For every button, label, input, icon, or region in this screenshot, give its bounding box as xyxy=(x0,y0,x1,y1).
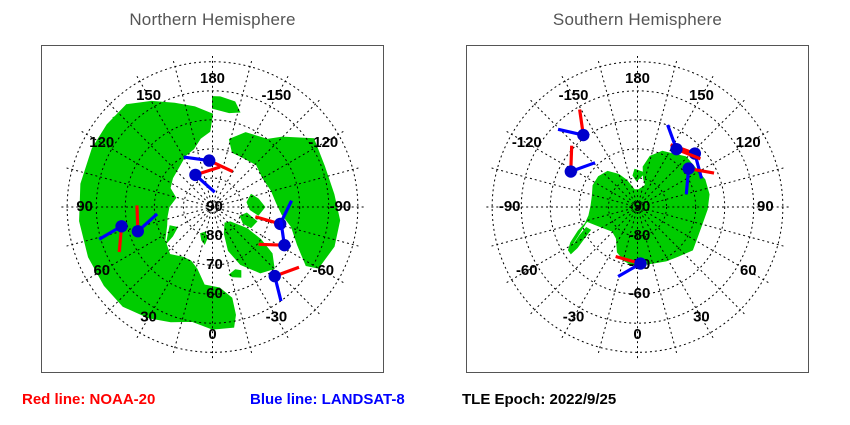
legend-tle-epoch: TLE Epoch: 2022/9/25 xyxy=(462,391,616,408)
satellite-marker xyxy=(682,162,694,174)
longitude-label: 30 xyxy=(140,310,157,326)
satellite-marker xyxy=(203,154,215,166)
southern-hemisphere-title: Southern Hemisphere xyxy=(425,10,850,30)
southern-hemisphere-panel: Southern Hemisphere 0306090120150180-150… xyxy=(425,0,850,390)
satellite-marker xyxy=(670,143,682,155)
longitude-label: -60 xyxy=(312,263,334,279)
northern-polar-plot: 0306090120150180-150-120-90-60-309080706… xyxy=(41,45,384,373)
longitude-label: -150 xyxy=(559,88,589,104)
latitude-label: -90 xyxy=(629,199,651,215)
longitude-label: 90 xyxy=(757,199,774,215)
latitude-label: -60 xyxy=(629,286,651,302)
satellite-marker xyxy=(115,220,127,232)
latitude-label: -80 xyxy=(629,228,651,244)
northern-hemisphere-panel: Northern Hemisphere 0306090120150180-150… xyxy=(0,0,425,390)
satellite-marker xyxy=(189,169,201,181)
longitude-label: 60 xyxy=(740,263,757,279)
longitude-label: -150 xyxy=(262,88,292,104)
legend-landsat-8: Blue line: LANDSAT-8 xyxy=(250,391,405,408)
longitude-label: 60 xyxy=(93,263,110,279)
landmass xyxy=(213,97,240,113)
satellite-marker xyxy=(132,225,144,237)
longitude-label: 0 xyxy=(633,327,641,343)
northern-polar-map: 0306090120150180-150-120-90-60-309080706… xyxy=(42,46,383,372)
landmass xyxy=(224,222,274,273)
longitude-label: 150 xyxy=(136,88,161,104)
longitude-label: 120 xyxy=(736,135,761,151)
longitude-label: 180 xyxy=(200,71,225,87)
longitude-label: -60 xyxy=(516,263,538,279)
longitude-label: 0 xyxy=(208,327,216,343)
latitude-label: 80 xyxy=(206,228,223,244)
longitude-label: 90 xyxy=(76,199,93,215)
longitude-label: 180 xyxy=(625,71,650,87)
longitude-label: 30 xyxy=(693,310,710,326)
longitude-label: 120 xyxy=(89,135,114,151)
longitude-label: -90 xyxy=(330,199,352,215)
longitude-label: -30 xyxy=(563,310,585,326)
longitude-label: -30 xyxy=(266,310,288,326)
satellite-marker xyxy=(565,165,577,177)
longitude-label: 150 xyxy=(689,88,714,104)
satellite-marker xyxy=(269,270,281,282)
satellite-marker xyxy=(278,239,290,251)
longitude-label: -120 xyxy=(308,135,338,151)
satellite-marker xyxy=(577,129,589,141)
satellite-marker xyxy=(634,257,646,269)
latitude-label: 60 xyxy=(206,286,223,302)
longitude-label: -120 xyxy=(512,135,542,151)
legend: Red line: NOAA-20 Blue line: LANDSAT-8 T… xyxy=(0,391,850,419)
northern-hemisphere-title: Northern Hemisphere xyxy=(0,10,425,30)
southern-polar-plot: 0306090120150180-150-120-90-60-30-90-80-… xyxy=(466,45,809,373)
southern-polar-map: 0306090120150180-150-120-90-60-30-90-80-… xyxy=(467,46,808,372)
landmass xyxy=(167,226,178,243)
longitude-label: -90 xyxy=(499,199,521,215)
legend-noaa-20: Red line: NOAA-20 xyxy=(22,391,155,408)
latitude-label: 70 xyxy=(206,257,223,273)
landmass xyxy=(247,194,265,215)
latitude-label: 90 xyxy=(206,199,223,215)
